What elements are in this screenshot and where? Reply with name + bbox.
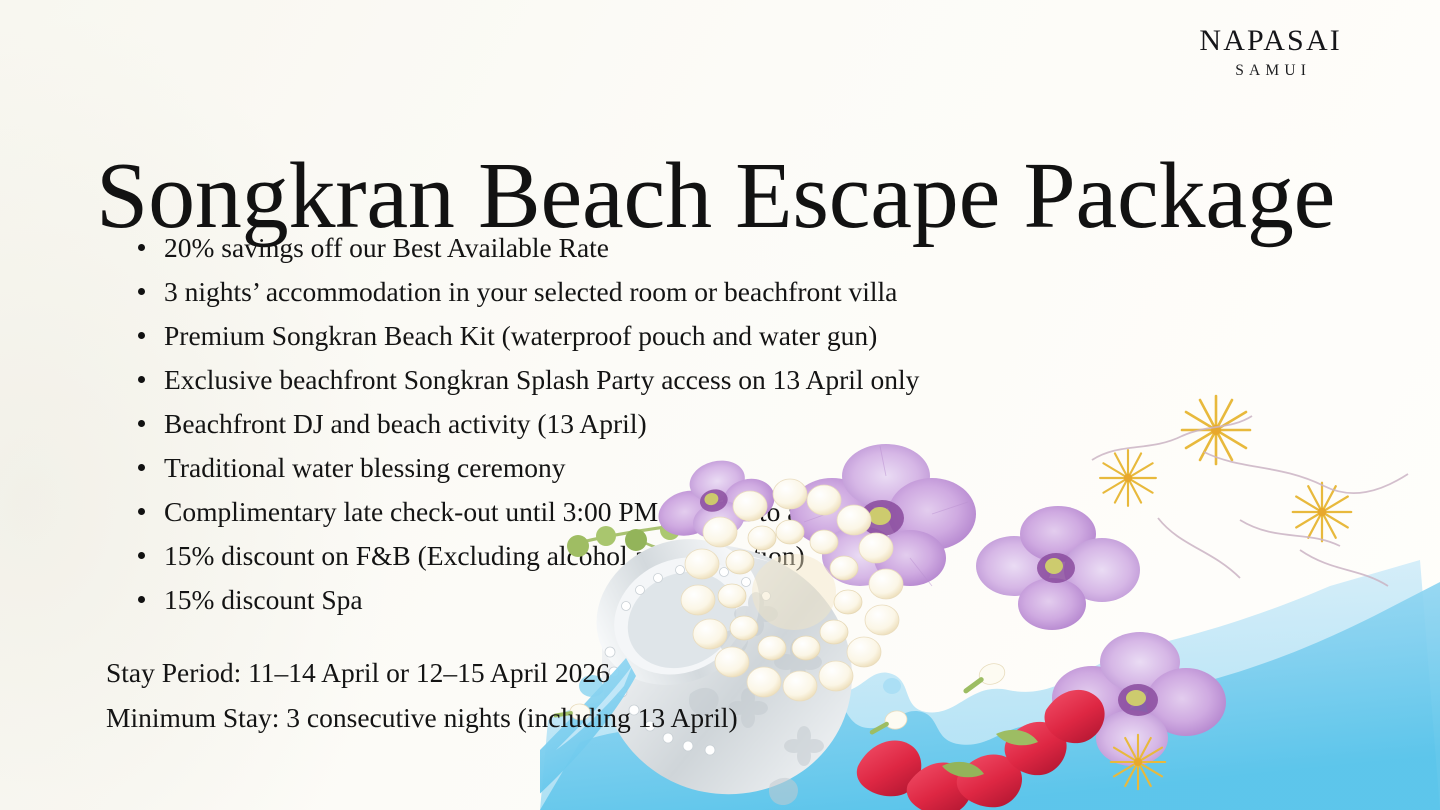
promotional-poster: NAPASAI SAMUI Songkran Beach Escape Pack… bbox=[0, 0, 1440, 810]
list-item-text: 15% discount Spa bbox=[164, 584, 363, 615]
stay-terms: Stay Period: 11–14 April or 12–15 April … bbox=[106, 650, 1006, 740]
bullet-icon bbox=[138, 332, 145, 339]
bullet-icon bbox=[138, 596, 145, 603]
bullet-icon bbox=[138, 552, 145, 559]
benefits-list: 20% savings off our Best Available Rate … bbox=[138, 226, 1138, 622]
list-item-text: Beachfront DJ and beach activity (13 Apr… bbox=[164, 408, 647, 439]
bullet-icon bbox=[138, 508, 145, 515]
bullet-icon bbox=[138, 376, 145, 383]
list-item: Premium Songkran Beach Kit (waterproof p… bbox=[138, 314, 1138, 358]
list-item: Exclusive beachfront Songkran Splash Par… bbox=[138, 358, 1138, 402]
list-item-text: Premium Songkran Beach Kit (waterproof p… bbox=[164, 320, 877, 351]
list-item: Traditional water blessing ceremony bbox=[138, 446, 1138, 490]
minimum-stay-line: Minimum Stay: 3 consecutive nights (incl… bbox=[106, 695, 1006, 740]
brand-name: NAPASAI bbox=[1199, 26, 1342, 56]
stem-lines-icon bbox=[1092, 416, 1408, 586]
list-item-text: 20% savings off our Best Available Rate bbox=[164, 232, 609, 263]
bullet-icon bbox=[138, 420, 145, 427]
list-item: 3 nights’ accommodation in your selected… bbox=[138, 270, 1138, 314]
list-item: 15% discount Spa bbox=[138, 578, 1138, 622]
bullet-icon bbox=[138, 288, 145, 295]
stay-period-line: Stay Period: 11–14 April or 12–15 April … bbox=[106, 650, 1006, 695]
list-item-text: Traditional water blessing ceremony bbox=[164, 452, 565, 483]
bullet-icon bbox=[138, 244, 145, 251]
bullet-icon bbox=[138, 464, 145, 471]
list-item-text: Complimentary late check-out until 3:00 … bbox=[164, 496, 920, 527]
list-item-text: 3 nights’ accommodation in your selected… bbox=[164, 276, 897, 307]
list-item: Complimentary late check-out until 3:00 … bbox=[138, 490, 1138, 534]
list-item-text: Exclusive beachfront Songkran Splash Par… bbox=[164, 364, 919, 395]
list-item-text: 15% discount on F&B (Excluding alcohol a… bbox=[164, 540, 805, 571]
list-item: 20% savings off our Best Available Rate bbox=[138, 226, 1138, 270]
brand-location: SAMUI bbox=[1199, 63, 1342, 79]
brand-logo: NAPASAI SAMUI bbox=[1199, 26, 1342, 79]
list-item: 15% discount on F&B (Excluding alcohol a… bbox=[138, 534, 1138, 578]
orchid-flower-icon bbox=[1052, 632, 1226, 766]
list-item: Beachfront DJ and beach activity (13 Apr… bbox=[138, 402, 1138, 446]
